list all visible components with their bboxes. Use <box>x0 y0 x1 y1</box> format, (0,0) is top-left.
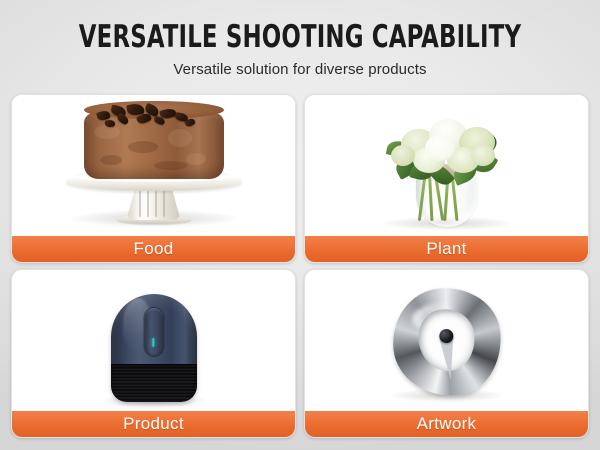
card-plant[interactable]: Plant <box>304 94 589 263</box>
card-plant-image <box>305 95 588 236</box>
bluetooth-speaker-illustration <box>94 282 214 410</box>
card-product-image <box>12 270 295 411</box>
poster-root: VERSATILE SHOOTING CAPABILITY Versatile … <box>0 0 600 450</box>
card-food-label: Food <box>12 236 295 262</box>
card-product[interactable]: Product <box>11 269 296 438</box>
card-product-label: Product <box>12 411 295 437</box>
card-artwork-image <box>305 270 588 411</box>
card-artwork-label: Artwork <box>305 411 588 437</box>
header: VERSATILE SHOOTING CAPABILITY Versatile … <box>0 0 600 78</box>
chocolate-cake-illustration <box>59 103 249 231</box>
chrome-torus-ring <box>387 283 506 402</box>
card-artwork[interactable]: Artwork <box>304 269 589 438</box>
page-title: VERSATILE SHOOTING CAPABILITY <box>54 0 546 54</box>
card-food[interactable]: Food <box>11 94 296 263</box>
speaker-mesh-grille <box>111 364 197 402</box>
card-plant-label: Plant <box>305 236 588 262</box>
card-food-image <box>12 95 295 236</box>
category-card-grid: Food <box>11 94 589 438</box>
speaker-power-button <box>144 308 163 356</box>
page-subtitle: Versatile solution for diverse products <box>0 54 600 78</box>
speaker-led-indicator <box>152 338 154 347</box>
hydrangea-bouquet-illustration <box>367 101 527 233</box>
cake-stand-stem <box>127 188 181 220</box>
chrome-sculpture-illustration <box>377 278 517 406</box>
